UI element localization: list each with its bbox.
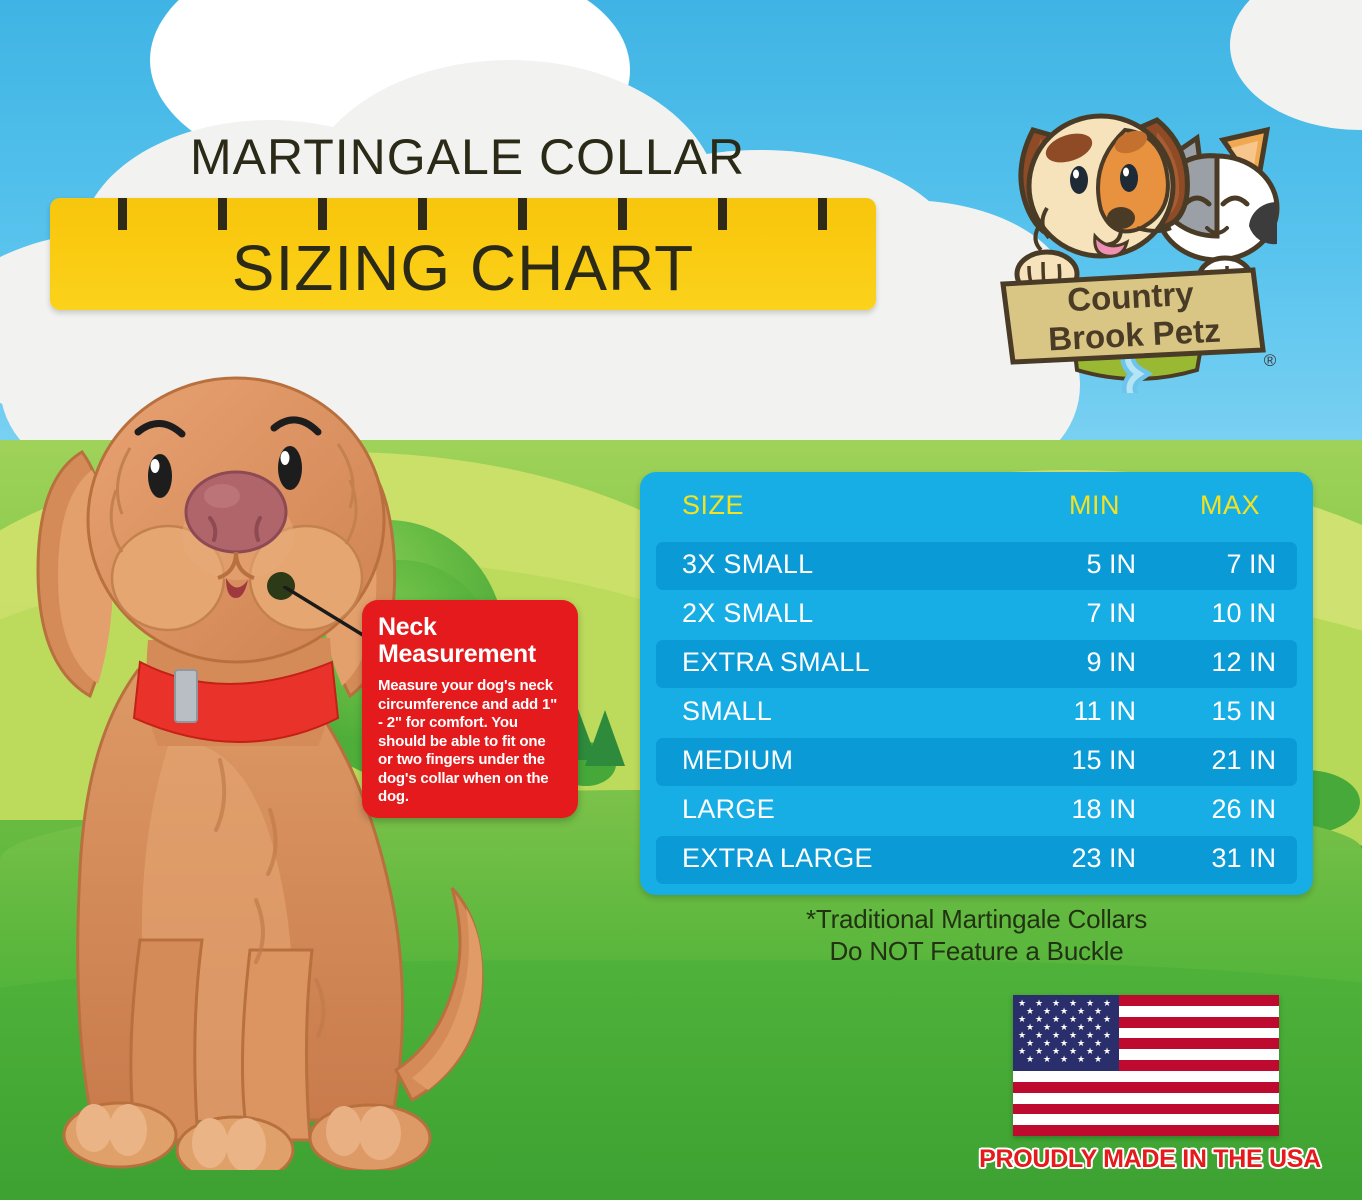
dog-paw: [177, 1117, 293, 1170]
made-in-usa-text: PROUDLY MADE IN THE USA: [940, 1145, 1360, 1174]
ruler-tick: [418, 198, 427, 230]
ruler-tick: [318, 198, 327, 230]
table-row: EXTRA LARGE 23 IN 31 IN: [656, 836, 1297, 884]
ruler-tick: [618, 198, 627, 230]
ruler-tick: [118, 198, 127, 230]
cell-size: 2X SMALL: [682, 598, 813, 629]
flag-artwork: ★★ ★★ ★★ ★★ ★★ ★ ★★ ★★ ★★ ★★ ★★ ★ ★★ ★★ …: [1013, 995, 1279, 1136]
dog-eye: [278, 446, 302, 490]
sizing-chart-banner: SIZING CHART: [50, 198, 876, 310]
column-header-size: SIZE: [682, 490, 744, 521]
callout-body: Measure your dog's neck circumference an…: [378, 677, 562, 807]
table-row: LARGE 18 IN 26 IN: [656, 787, 1297, 835]
ruler-tick: [518, 198, 527, 230]
logo-line1: Country: [1066, 275, 1195, 319]
sizing-table-panel: SIZE MIN MAX 3X SMALL 5 IN 7 IN 2X SMALL…: [640, 472, 1313, 895]
cell-max: 26 IN: [1096, 794, 1276, 825]
logo-artwork: Country Brook Petz ®: [985, 78, 1285, 393]
dog-leg: [242, 950, 312, 1140]
table-row: MEDIUM 15 IN 21 IN: [656, 738, 1297, 786]
dog-paw: [310, 1105, 430, 1170]
callout-heading: Neck Measurement: [378, 614, 562, 668]
neck-measurement-callout: Neck Measurement Measure your dog's neck…: [362, 600, 578, 818]
ruler-tick: [218, 198, 227, 230]
cell-max: 31 IN: [1096, 843, 1276, 874]
cell-size: EXTRA LARGE: [682, 843, 873, 874]
ruler-tick: [718, 198, 727, 230]
table-row: SMALL 11 IN 15 IN: [656, 689, 1297, 737]
cell-size: LARGE: [682, 794, 775, 825]
dog-eye: [148, 454, 172, 498]
ruler-tick: [818, 198, 827, 230]
banner-title: SIZING CHART: [50, 230, 876, 306]
cell-size: SMALL: [682, 696, 772, 727]
country-brook-petz-logo[interactable]: Country Brook Petz ®: [985, 78, 1285, 393]
table-header-row: SIZE MIN MAX: [640, 490, 1313, 534]
dog-nose: [186, 472, 286, 552]
dog-paw: [64, 1103, 176, 1167]
sizing-chart-infographic: MARTINGALE COLLAR SIZING CHART: [0, 0, 1362, 1200]
cell-size: EXTRA SMALL: [682, 647, 870, 678]
cell-max: 12 IN: [1096, 647, 1276, 678]
table-row: EXTRA SMALL 9 IN 12 IN: [656, 640, 1297, 688]
column-header-max: MAX: [1080, 490, 1260, 521]
cell-max: 15 IN: [1096, 696, 1276, 727]
cell-size: MEDIUM: [682, 745, 793, 776]
flag-canton: ★★ ★★ ★★ ★★ ★★ ★ ★★ ★★ ★★ ★★ ★★ ★ ★★ ★★ …: [1013, 995, 1119, 1071]
measurement-pointer-line: [283, 586, 373, 642]
registered-trademark-icon: ®: [1264, 351, 1277, 370]
cell-max: 10 IN: [1096, 598, 1276, 629]
pine-tree: [585, 710, 625, 766]
disclaimer-line-1: *Traditional Martingale Collars: [640, 903, 1313, 935]
page-title: MARTINGALE COLLAR: [190, 128, 745, 186]
cell-max: 21 IN: [1096, 745, 1276, 776]
table-row: 3X SMALL 5 IN 7 IN: [656, 542, 1297, 590]
buckle-disclaimer: *Traditional Martingale Collars Do NOT F…: [640, 903, 1313, 967]
collar-slider: [175, 670, 197, 722]
cell-max: 7 IN: [1096, 549, 1276, 580]
cell-size: 3X SMALL: [682, 549, 813, 580]
disclaimer-line-2: Do NOT Feature a Buckle: [640, 935, 1313, 967]
table-row: 2X SMALL 7 IN 10 IN: [656, 591, 1297, 639]
usa-flag: ★★ ★★ ★★ ★★ ★★ ★ ★★ ★★ ★★ ★★ ★★ ★ ★★ ★★ …: [1013, 995, 1279, 1136]
